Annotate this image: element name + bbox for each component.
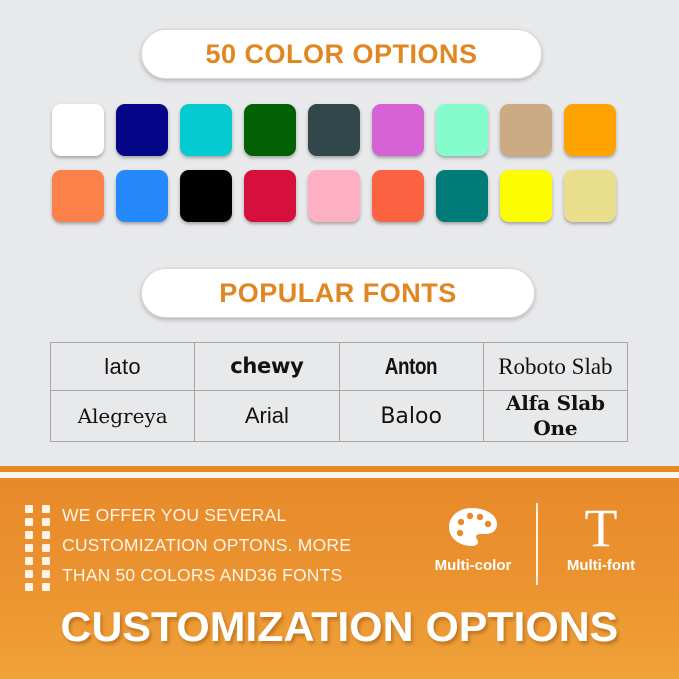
font-cell-chewy: chewy bbox=[195, 343, 339, 391]
color-swatch-row-1 bbox=[52, 104, 631, 156]
decorative-dot bbox=[42, 570, 50, 578]
fonts-table: lato chewy Anton Roboto Slab Alegreya Ar… bbox=[50, 342, 628, 442]
banner-description: WE OFFER YOU SEVERAL CUSTOMIZATION OPTON… bbox=[62, 500, 392, 590]
feature-label-multi-color: Multi-color bbox=[435, 557, 512, 574]
font-cell-arial: Arial bbox=[195, 391, 339, 442]
banner-line-1: WE OFFER YOU SEVERAL bbox=[62, 500, 392, 530]
feature-multi-font: T Multi-font bbox=[546, 503, 656, 585]
feature-label-multi-font: Multi-font bbox=[567, 557, 635, 574]
colors-banner-pill: 50 COLOR OPTIONS bbox=[141, 29, 542, 79]
color-swatch-navy[interactable] bbox=[116, 104, 168, 156]
color-swatch-yellow[interactable] bbox=[500, 170, 552, 222]
color-swatch-tomato[interactable] bbox=[372, 170, 424, 222]
decorative-dot bbox=[25, 531, 33, 539]
font-cell-lato: lato bbox=[51, 343, 195, 391]
dot-grid-decoration bbox=[25, 505, 50, 591]
color-swatch-coral[interactable] bbox=[52, 170, 104, 222]
color-swatch-black[interactable] bbox=[180, 170, 232, 222]
colors-banner-text: 50 COLOR OPTIONS bbox=[205, 39, 477, 70]
color-swatch-pink[interactable] bbox=[308, 170, 360, 222]
fonts-banner-text: POPULAR FONTS bbox=[219, 278, 457, 309]
color-swatch-dodger-blue[interactable] bbox=[116, 170, 168, 222]
table-row: lato chewy Anton Roboto Slab bbox=[51, 343, 628, 391]
color-swatch-grid bbox=[52, 104, 631, 222]
decorative-dot bbox=[25, 544, 33, 552]
decorative-dot bbox=[25, 505, 33, 513]
decorative-dot bbox=[42, 518, 50, 526]
color-swatch-aquamarine[interactable] bbox=[436, 104, 488, 156]
decorative-dot bbox=[42, 544, 50, 552]
banner-title: CUSTOMIZATION OPTIONS bbox=[0, 603, 679, 651]
color-swatch-teal[interactable] bbox=[436, 170, 488, 222]
feature-divider bbox=[536, 503, 538, 585]
color-swatch-white[interactable] bbox=[52, 104, 104, 156]
palette-icon bbox=[446, 503, 500, 553]
table-row: Alegreya Arial Baloo Alfa Slab One bbox=[51, 391, 628, 442]
letter-t-icon: T bbox=[585, 503, 618, 553]
banner-line-2: CUSTOMIZATION OPTONS. MORE bbox=[62, 530, 392, 560]
color-swatch-orchid[interactable] bbox=[372, 104, 424, 156]
banner-line-3: THAN 50 COLORS AND36 FONTS bbox=[62, 560, 392, 590]
decorative-dot bbox=[42, 505, 50, 513]
decorative-dot bbox=[25, 557, 33, 565]
fonts-banner-pill: POPULAR FONTS bbox=[141, 268, 535, 318]
font-cell-alegreya: Alegreya bbox=[51, 391, 195, 442]
font-cell-baloo: Baloo bbox=[339, 391, 483, 442]
font-cell-roboto-slab: Roboto Slab bbox=[483, 343, 627, 391]
color-swatch-turquoise[interactable] bbox=[180, 104, 232, 156]
decorative-dot bbox=[42, 531, 50, 539]
color-swatch-tan[interactable] bbox=[500, 104, 552, 156]
font-cell-alfa-slab-one: Alfa Slab One bbox=[483, 391, 627, 442]
font-cell-anton: Anton bbox=[339, 343, 483, 391]
color-swatch-khaki[interactable] bbox=[564, 170, 616, 222]
decorative-dot bbox=[42, 583, 50, 591]
decorative-dot bbox=[25, 570, 33, 578]
color-swatch-row-2 bbox=[52, 170, 631, 222]
color-swatch-crimson[interactable] bbox=[244, 170, 296, 222]
color-swatch-dark-green[interactable] bbox=[244, 104, 296, 156]
color-swatch-dark-slate[interactable] bbox=[308, 104, 360, 156]
decorative-dot bbox=[25, 583, 33, 591]
feature-list: Multi-color T Multi-font bbox=[418, 503, 656, 585]
decorative-dot bbox=[42, 557, 50, 565]
feature-multi-color: Multi-color bbox=[418, 503, 528, 585]
color-swatch-orange[interactable] bbox=[564, 104, 616, 156]
decorative-dot bbox=[25, 518, 33, 526]
